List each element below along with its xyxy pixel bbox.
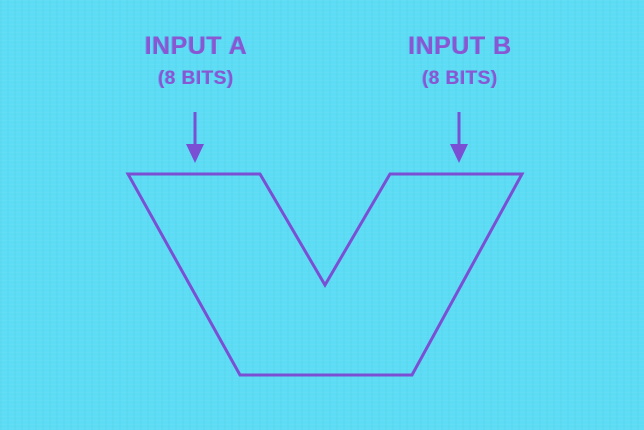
alu-symbol xyxy=(128,174,522,375)
input-b-label-title: INPUT B xyxy=(360,32,560,60)
arrow-head-input-b xyxy=(450,144,468,163)
arrow-down-input-a xyxy=(186,112,204,163)
arrow-down-input-b xyxy=(450,112,468,163)
input-a-label-title: INPUT A xyxy=(96,32,296,60)
input-b-label-subtitle: (8 BITS) xyxy=(360,68,560,90)
alu-diagram-svg xyxy=(0,0,644,430)
input-a-label-subtitle: (8 BITS) xyxy=(96,68,296,90)
arrow-head-input-a xyxy=(186,144,204,163)
diagram-canvas: INPUT A (8 BITS) INPUT B (8 BITS) xyxy=(0,0,644,430)
